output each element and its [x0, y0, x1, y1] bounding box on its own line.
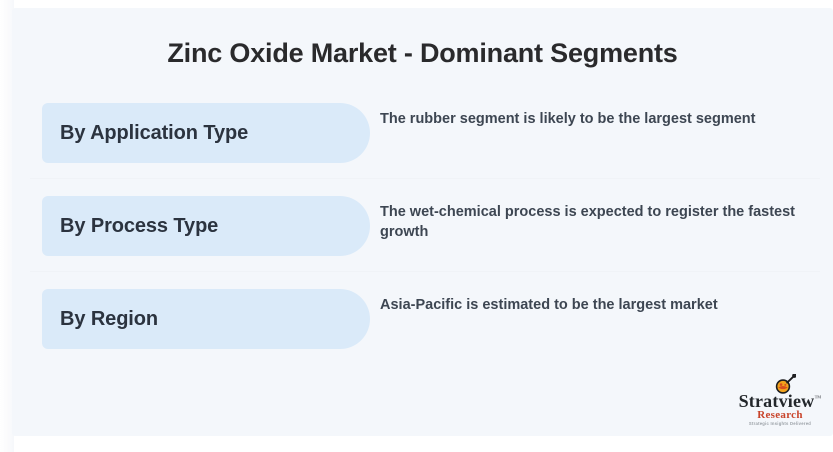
segment-label: By Application Type — [42, 122, 248, 145]
row-separator — [30, 271, 820, 272]
segment-pill-region[interactable]: By Region — [42, 289, 370, 349]
logo-wordmark-text: Stratview — [739, 391, 815, 411]
segment-description: The wet-chemical process is expected to … — [380, 202, 812, 242]
page-title: Zinc Oxide Market - Dominant Segments — [12, 38, 833, 69]
segment-row: By Region Asia-Pacific is estimated to b… — [12, 289, 833, 349]
logo-tagline: Strategic Insights Delivered — [730, 421, 830, 426]
trademark-symbol: ™ — [814, 394, 821, 402]
logo-subtitle: Research — [730, 409, 830, 421]
stratview-research-logo: Stratview™ Research Strategic Insights D… — [730, 374, 830, 430]
segment-pill-process-type[interactable]: By Process Type — [42, 196, 370, 256]
segment-description: The rubber segment is likely to be the l… — [380, 109, 812, 129]
segment-description: Asia-Pacific is estimated to be the larg… — [380, 295, 812, 315]
segment-label: By Region — [42, 308, 158, 331]
infographic-canvas: Zinc Oxide Market - Dominant Segments By… — [0, 0, 833, 452]
segment-row: By Application Type The rubber segment i… — [12, 103, 833, 163]
segment-pill-application-type[interactable]: By Application Type — [42, 103, 370, 163]
segment-label: By Process Type — [42, 215, 218, 238]
content-card: Zinc Oxide Market - Dominant Segments By… — [12, 8, 833, 436]
row-separator — [30, 178, 820, 179]
segment-row: By Process Type The wet-chemical process… — [12, 196, 833, 256]
